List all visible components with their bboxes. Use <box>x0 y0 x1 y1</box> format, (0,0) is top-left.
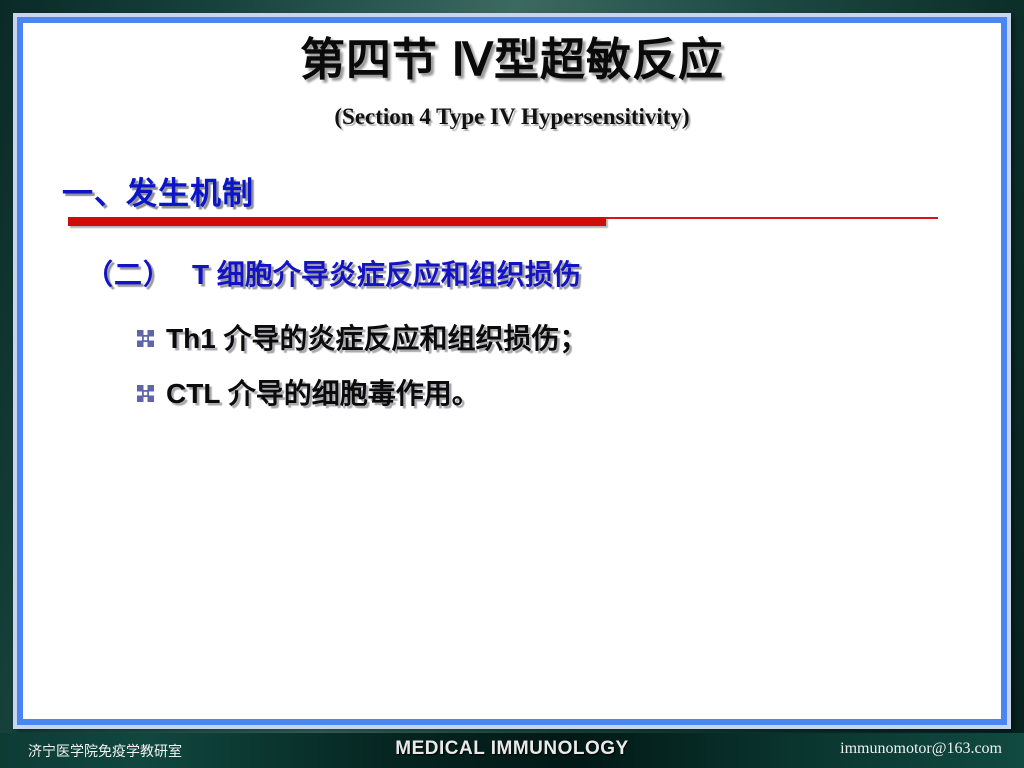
list-item: Th1 介导的炎症反应和组织损伤； <box>137 321 588 376</box>
slide-frame-blue-border: 第四节 Ⅳ型超敏反应 (Section 4 Type IV Hypersensi… <box>17 17 1007 725</box>
footer-contact-email: immunomotor@163.com <box>840 740 1002 758</box>
slide-title-english: (Section 4 Type IV Hypersensitivity) <box>23 104 1001 130</box>
sub-heading-label: （二） <box>85 259 172 290</box>
slide-footer-bar: 济宁医学院免疫学教研室 MEDICAL IMMUNOLOGY immunomot… <box>0 733 1024 768</box>
slide-root: 第四节 Ⅳ型超敏反应 (Section 4 Type IV Hypersensi… <box>0 0 1024 768</box>
section-divider-thin-red <box>606 217 938 219</box>
bullet-list: Th1 介导的炎症反应和组织损伤； <box>137 321 588 431</box>
square-bullet-icon <box>137 385 154 402</box>
section-divider-thick-red <box>68 217 606 226</box>
footer-course-title-text: MEDICAL IMMUNOLOGY <box>395 738 628 759</box>
slide-canvas: 第四节 Ⅳ型超敏反应 (Section 4 Type IV Hypersensi… <box>23 23 1001 719</box>
sub-heading: （二）T 细胞介导炎症反应和组织损伤 <box>85 253 581 293</box>
slide-frame-outer-border: 第四节 Ⅳ型超敏反应 (Section 4 Type IV Hypersensi… <box>13 13 1011 729</box>
slide-title-chinese: 第四节 Ⅳ型超敏反应 <box>23 36 1001 83</box>
list-item: CTL 介导的细胞毒作用。 <box>137 376 588 431</box>
square-bullet-icon <box>137 330 154 347</box>
list-item-label: CTL 介导的细胞毒作用。 <box>166 376 480 411</box>
section-heading: 一、发生机制 <box>62 168 254 213</box>
sub-heading-body: T 细胞介导炎症反应和组织损伤 <box>172 259 581 290</box>
list-item-label: Th1 介导的炎症反应和组织损伤； <box>166 321 588 356</box>
